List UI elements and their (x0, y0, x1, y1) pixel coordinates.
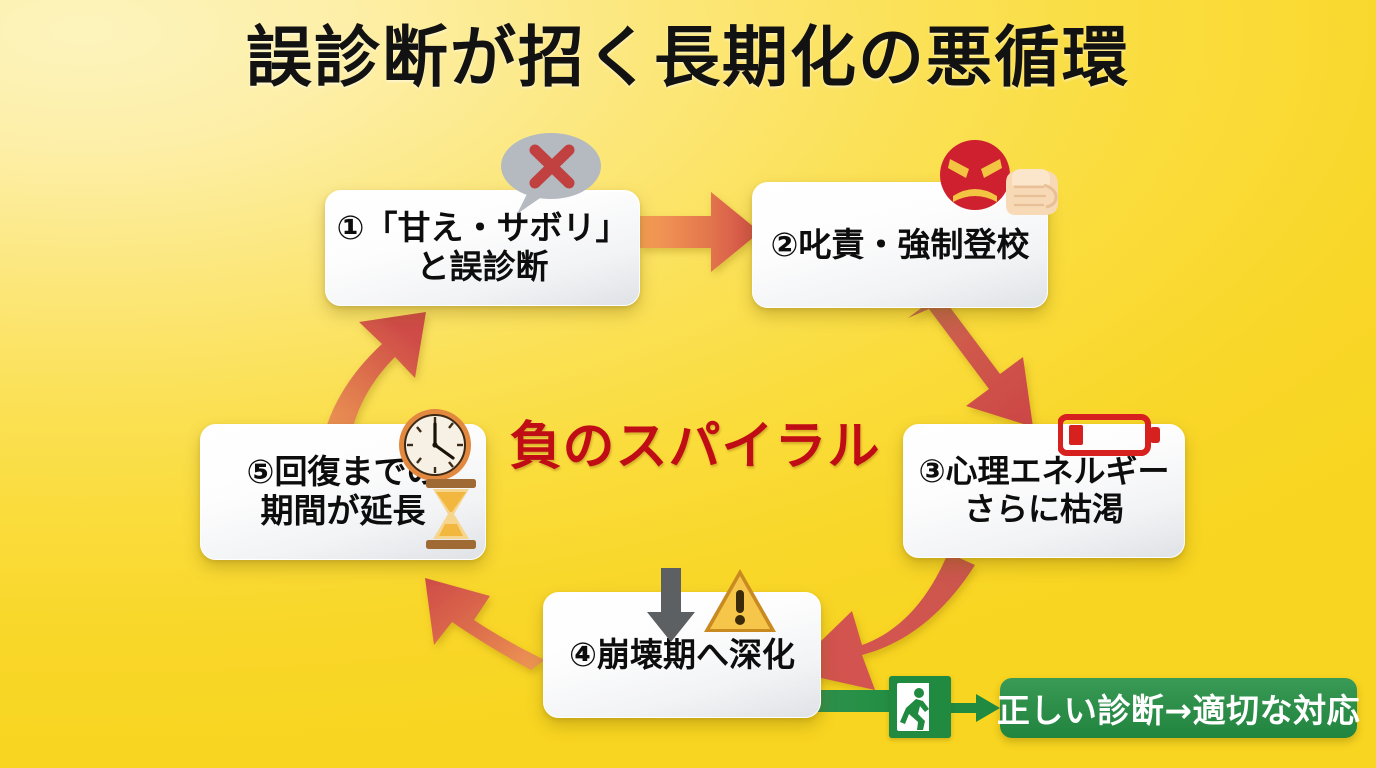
cycle-step-2-label: ②叱責・強制登校 (763, 226, 1038, 265)
cycle-step-5-card[interactable]: ⑤回復までの 期間が延長 (200, 424, 486, 560)
arrow-step1-to-step2 (640, 192, 760, 272)
arrow-step2-to-step3 (906, 294, 1033, 427)
cycle-step-1-label: ①「甘え・サボリ」 と誤診断 (329, 209, 637, 287)
solution-banner[interactable]: 正しい診断→適切な対応 (1000, 678, 1357, 738)
cycle-step-4-label: ④崩壊期へ深化 (561, 636, 803, 675)
cycle-step-2-card[interactable]: ②叱責・強制登校 (752, 182, 1048, 308)
cycle-step-3-label: ③心理エネルギー さらに枯渇 (910, 453, 1177, 529)
solution-banner-label: 正しい診断→適切な対応 (997, 684, 1360, 732)
cycle-step-5-label: ⑤回復までの 期間が延長 (239, 453, 448, 531)
cycle-step-3-card[interactable]: ③心理エネルギー さらに枯渇 (903, 424, 1185, 558)
exit-sign-icon (889, 676, 951, 738)
cycle-step-1-card[interactable]: ①「甘え・サボリ」 と誤診断 (325, 190, 640, 306)
green-arrow-icon (944, 694, 1000, 722)
infographic-canvas: 誤診断が招く長期化の悪循環 負のスパイラル (0, 0, 1376, 768)
cycle-step-4-card[interactable]: ④崩壊期へ深化 (543, 592, 821, 718)
arrow-step4-to-step5 (425, 578, 545, 670)
